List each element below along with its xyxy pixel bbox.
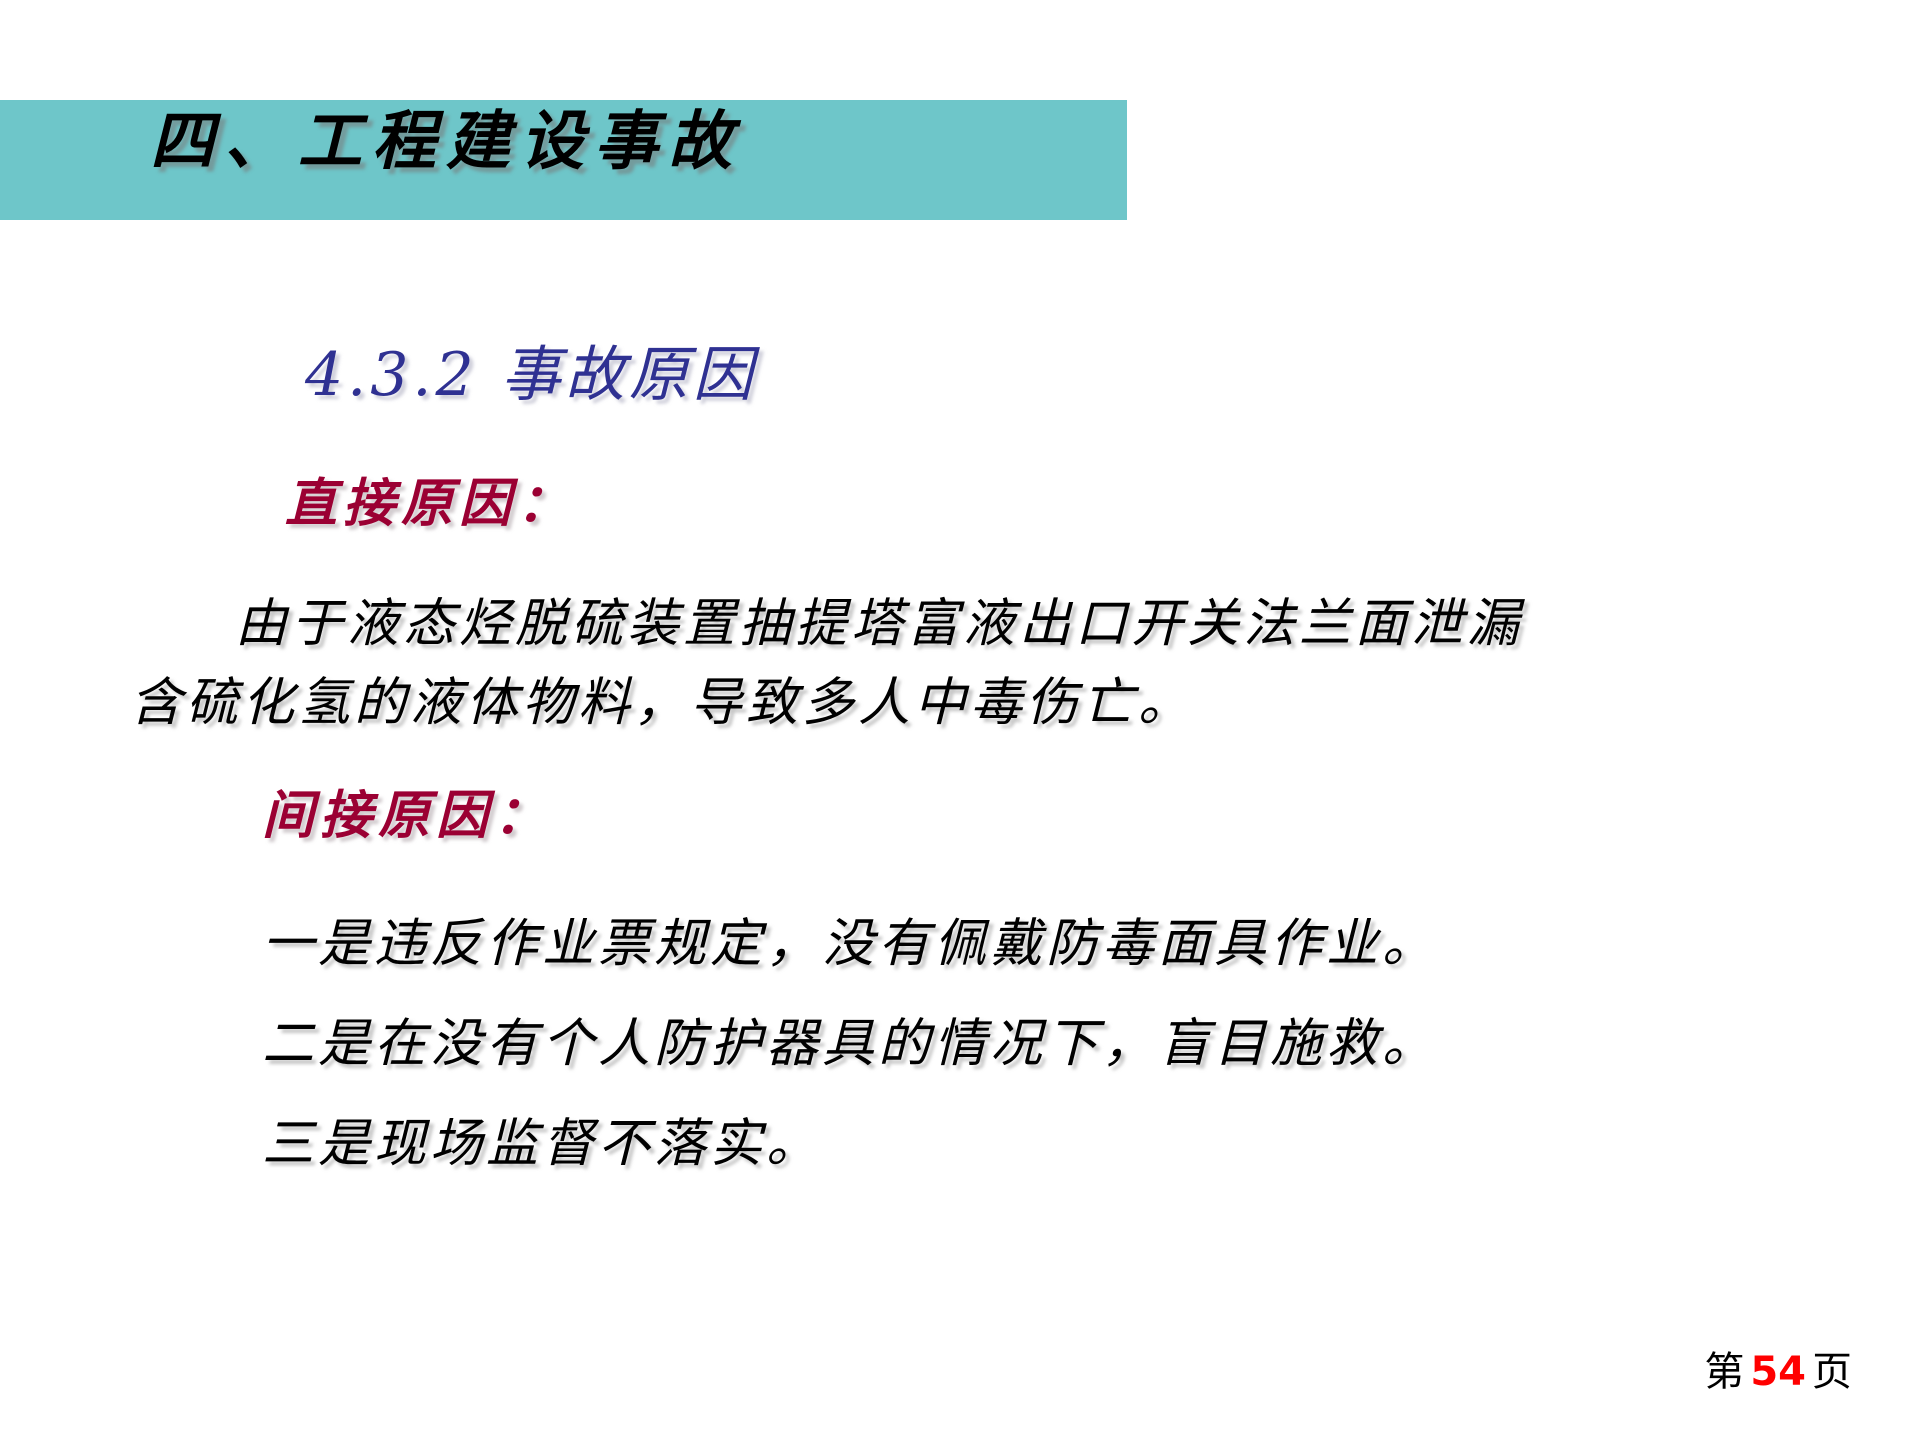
slide-canvas: 四、工程建设事故 4.3.2 事故原因 直接原因： 由于液态烃脱硫装置抽提塔富液… (0, 0, 1920, 1440)
indirect-cause-item-3: 三是现场监督不落实。 (262, 1095, 1438, 1195)
section-heading: 4.3.2 事故原因 (305, 345, 757, 405)
indirect-cause-item-1: 一是违反作业票规定，没有佩戴防毒面具作业。 (262, 895, 1438, 995)
direct-cause-label: 直接原因： (285, 478, 575, 530)
direct-cause-paragraph: 由于液态烃脱硫装置抽提塔富液出口开关法兰面泄漏 含硫化氢的液体物料，导致多人中毒… (130, 585, 1820, 743)
indirect-cause-item-2: 二是在没有个人防护器具的情况下，盲目施救。 (262, 995, 1438, 1095)
page-number-footer: 第54页 (1704, 1352, 1852, 1392)
page-prefix-label: 第 (1704, 1349, 1744, 1395)
indirect-cause-label: 间接原因： (262, 790, 552, 842)
direct-cause-line-2: 含硫化氢的液体物料，导致多人中毒伤亡。 (130, 664, 1820, 743)
direct-cause-line-1: 由于液态烃脱硫装置抽提塔富液出口开关法兰面泄漏 (130, 585, 1820, 664)
slide-title: 四、工程建设事故 (150, 110, 742, 174)
indirect-cause-list: 一是违反作业票规定，没有佩戴防毒面具作业。 二是在没有个人防护器具的情况下，盲目… (262, 895, 1438, 1194)
page-suffix-label: 页 (1812, 1349, 1852, 1395)
page-number-value: 54 (1750, 1349, 1806, 1395)
